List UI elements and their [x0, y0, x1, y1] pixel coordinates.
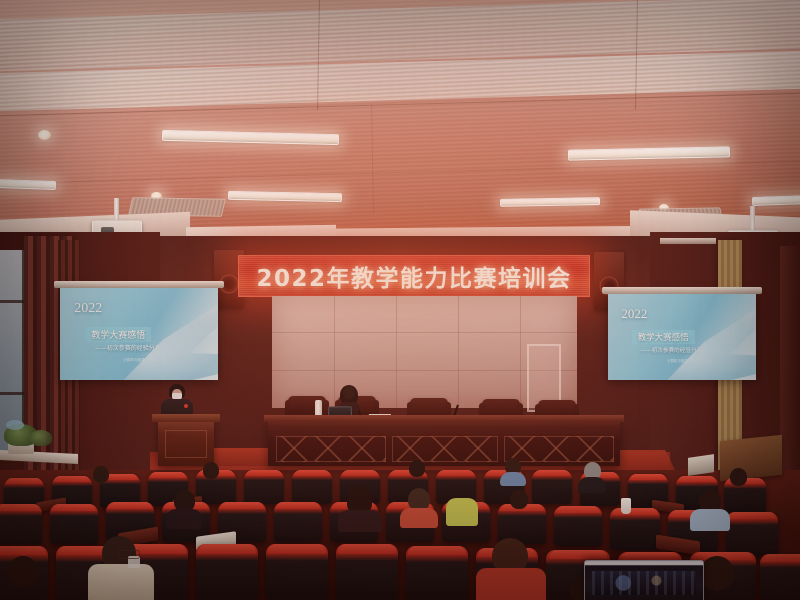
right-projection-screen: 2022 教学大赛感悟 ——初次参赛的经验分享 计算机与信息工程学院 汇报人 [608, 294, 756, 380]
projector-mount-pole [750, 206, 755, 230]
person-torso [476, 568, 546, 600]
audience-seat [406, 546, 468, 600]
audience-member [476, 538, 546, 600]
audience-seat [532, 470, 572, 504]
eyeglasses [118, 550, 140, 559]
audience-member [578, 462, 606, 490]
audience-member [88, 536, 154, 600]
table-surface [264, 415, 624, 422]
audience-seat [274, 502, 322, 542]
audience-member [0, 556, 54, 600]
audience-member [166, 490, 202, 526]
audience-member [446, 492, 478, 526]
audience-seat [554, 506, 602, 546]
audience-seat [196, 544, 258, 600]
slide-footer: 计算机与信息工程学院 汇报人 [123, 358, 171, 362]
lapel-badge [184, 404, 188, 408]
audience-seat [0, 504, 42, 544]
ceiling-downlight [38, 130, 51, 140]
screen-valance [660, 238, 716, 244]
audience-seat [292, 470, 332, 504]
ceiling-light-strip [0, 179, 56, 190]
head-table [268, 420, 620, 466]
side-stool [688, 454, 714, 476]
backdrop-panel-line [272, 332, 577, 333]
audience-member [690, 490, 730, 530]
podium-front-panel [165, 430, 207, 458]
right-wall-return [780, 246, 800, 486]
decor-object [6, 420, 24, 430]
podium-surface [152, 414, 220, 422]
slide-year: 2022 [74, 301, 102, 317]
person-torso [166, 509, 202, 529]
ceiling-light-strip [752, 195, 800, 206]
person-torso [690, 509, 730, 531]
audience-member [504, 490, 534, 524]
backdrop-panel-line [334, 296, 335, 408]
person-head [8, 556, 38, 586]
slide-subtitle: ——初次参赛的经验分享 [95, 343, 161, 352]
backdrop-panel-line [458, 296, 459, 408]
person-head [730, 468, 747, 486]
banner-title: 2022年教学能力比赛培训会 [256, 259, 571, 293]
projector-mount-pole [114, 198, 119, 220]
stage-backdrop [272, 296, 577, 408]
audience-seat [244, 470, 284, 504]
audience-seat [610, 508, 660, 550]
slide-content: 2022 教学大赛感悟 ——初次参赛的经验分享 计算机与信息工程学院 汇报人 [60, 288, 218, 380]
audience-member [338, 486, 382, 528]
person-head [700, 556, 734, 590]
person-torso [88, 564, 154, 600]
drink-cup [621, 498, 631, 514]
person-head [409, 460, 425, 477]
audience-member [404, 460, 430, 484]
person-torso [400, 508, 438, 528]
slide-content: 2022 教学大赛感悟 ——初次参赛的经验分享 计算机与信息工程学院 汇报人 [608, 294, 756, 380]
audience-member [88, 466, 114, 490]
person-head [93, 466, 109, 483]
audience-member [400, 488, 438, 526]
speaker-podium [158, 420, 214, 466]
slide-title: 教学大赛感悟 [632, 330, 695, 344]
slide-subtitle: ——初次参赛的经验分享 [641, 346, 703, 354]
person-head [510, 490, 528, 509]
left-projection-screen: 2022 教学大赛感悟 ——初次参赛的经验分享 计算机与信息工程学院 汇报人 [60, 288, 218, 380]
backdrop-panel-line [396, 296, 397, 408]
person-head [203, 462, 219, 479]
table-front-panel [392, 436, 498, 462]
audience-seat [266, 544, 328, 600]
audience-seat [760, 554, 800, 600]
audience-seat [726, 512, 778, 556]
person-torso [446, 498, 478, 526]
screen-roller-bar [54, 281, 224, 288]
potted-plant [30, 430, 52, 446]
slide-year: 2022 [621, 306, 647, 322]
audience-member [198, 462, 224, 486]
slide-title: 教学大赛感悟 [85, 327, 151, 342]
led-banner: 2022年教学能力比赛培训会 [238, 255, 590, 297]
backdrop-panel-line [520, 296, 521, 408]
person-head [343, 386, 355, 399]
audience-seat [336, 544, 398, 600]
table-front-panel [276, 436, 386, 462]
person-torso [500, 472, 526, 486]
attendee-laptop [584, 560, 704, 600]
person-torso [338, 510, 382, 532]
person-torso [578, 477, 606, 493]
screen-roller-bar [602, 287, 762, 294]
audience-member [500, 458, 526, 484]
auditorium-photo: 2022年教学能力比赛培训会 2022 教学大赛感悟 ——初次参赛的经验分享 计… [0, 0, 800, 600]
slide-footer: 计算机与信息工程学院 汇报人 [667, 359, 712, 363]
